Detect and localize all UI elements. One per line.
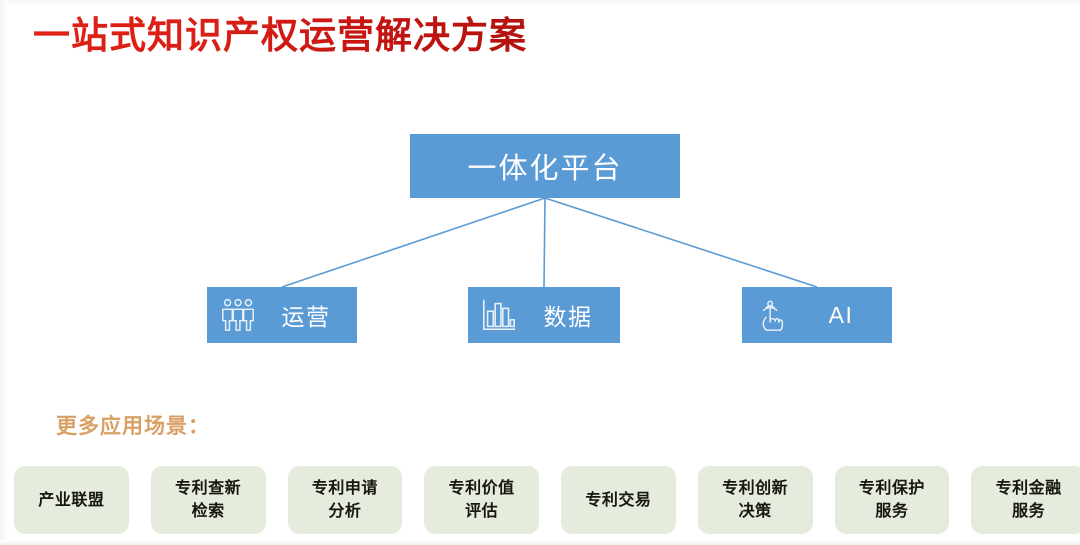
scenario-chip[interactable]: 专利价值 评估 [424,466,539,534]
scenario-chip[interactable]: 专利查新 检索 [151,466,266,534]
page-title: 一站式知识产权运营解决方案 [33,14,527,58]
scenario-chip-row: 产业联盟 专利查新 检索 专利申请 分析 专利价值 评估 专利交易 专利创新 决… [14,466,1080,534]
scenario-chip[interactable]: 专利创新 决策 [698,466,813,534]
three-people-icon [217,294,259,336]
node-integrated-platform-label: 一体化平台 [467,145,622,187]
touch-hand-icon [752,294,794,336]
scenario-chip[interactable]: 专利金融 服务 [971,466,1080,534]
page-edge-left [0,0,7,545]
scenario-chip[interactable]: 专利交易 [561,466,676,534]
connector-to-operations [282,198,545,287]
scenario-chip[interactable]: 专利保护 服务 [835,466,950,534]
node-integrated-platform[interactable]: 一体化平台 [410,134,680,198]
more-scenarios-label: 更多应用场景： [56,410,210,440]
node-data[interactable]: 数据 [468,287,620,343]
page-edge-bottom [0,540,1080,545]
node-ai[interactable]: AI [742,287,892,343]
node-ai-label: AI [802,302,892,329]
slide-canvas: 一站式知识产权运营解决方案 一站式知识产权运营解决方案 一体化平台 运营 [0,0,1080,545]
node-operations[interactable]: 运营 [207,287,357,343]
diagram-connectors [0,0,1080,545]
node-data-label: 数据 [528,298,620,332]
node-operations-label: 运营 [267,298,357,332]
connector-to-ai [545,198,817,287]
page-edge-top [0,0,1080,6]
bar-chart-icon [478,294,520,336]
scenario-chip[interactable]: 专利申请 分析 [288,466,403,534]
connector-to-data [544,198,545,287]
scenario-chip[interactable]: 产业联盟 [14,466,129,534]
